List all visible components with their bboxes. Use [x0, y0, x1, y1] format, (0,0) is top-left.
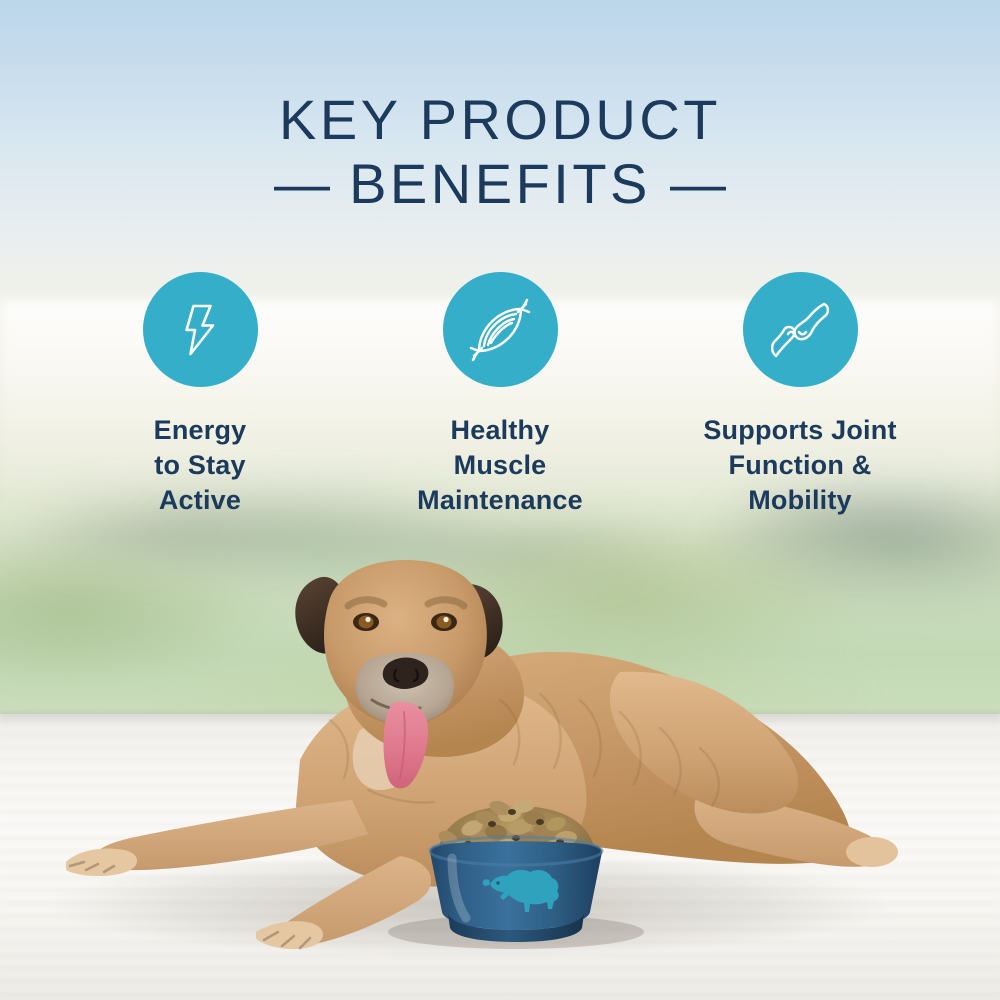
- dog-food-bowl: [0, 0, 1000, 1000]
- key-product-benefits-graphic: KEY PRODUCT — BENEFITS — Energy to Stay …: [0, 0, 1000, 1000]
